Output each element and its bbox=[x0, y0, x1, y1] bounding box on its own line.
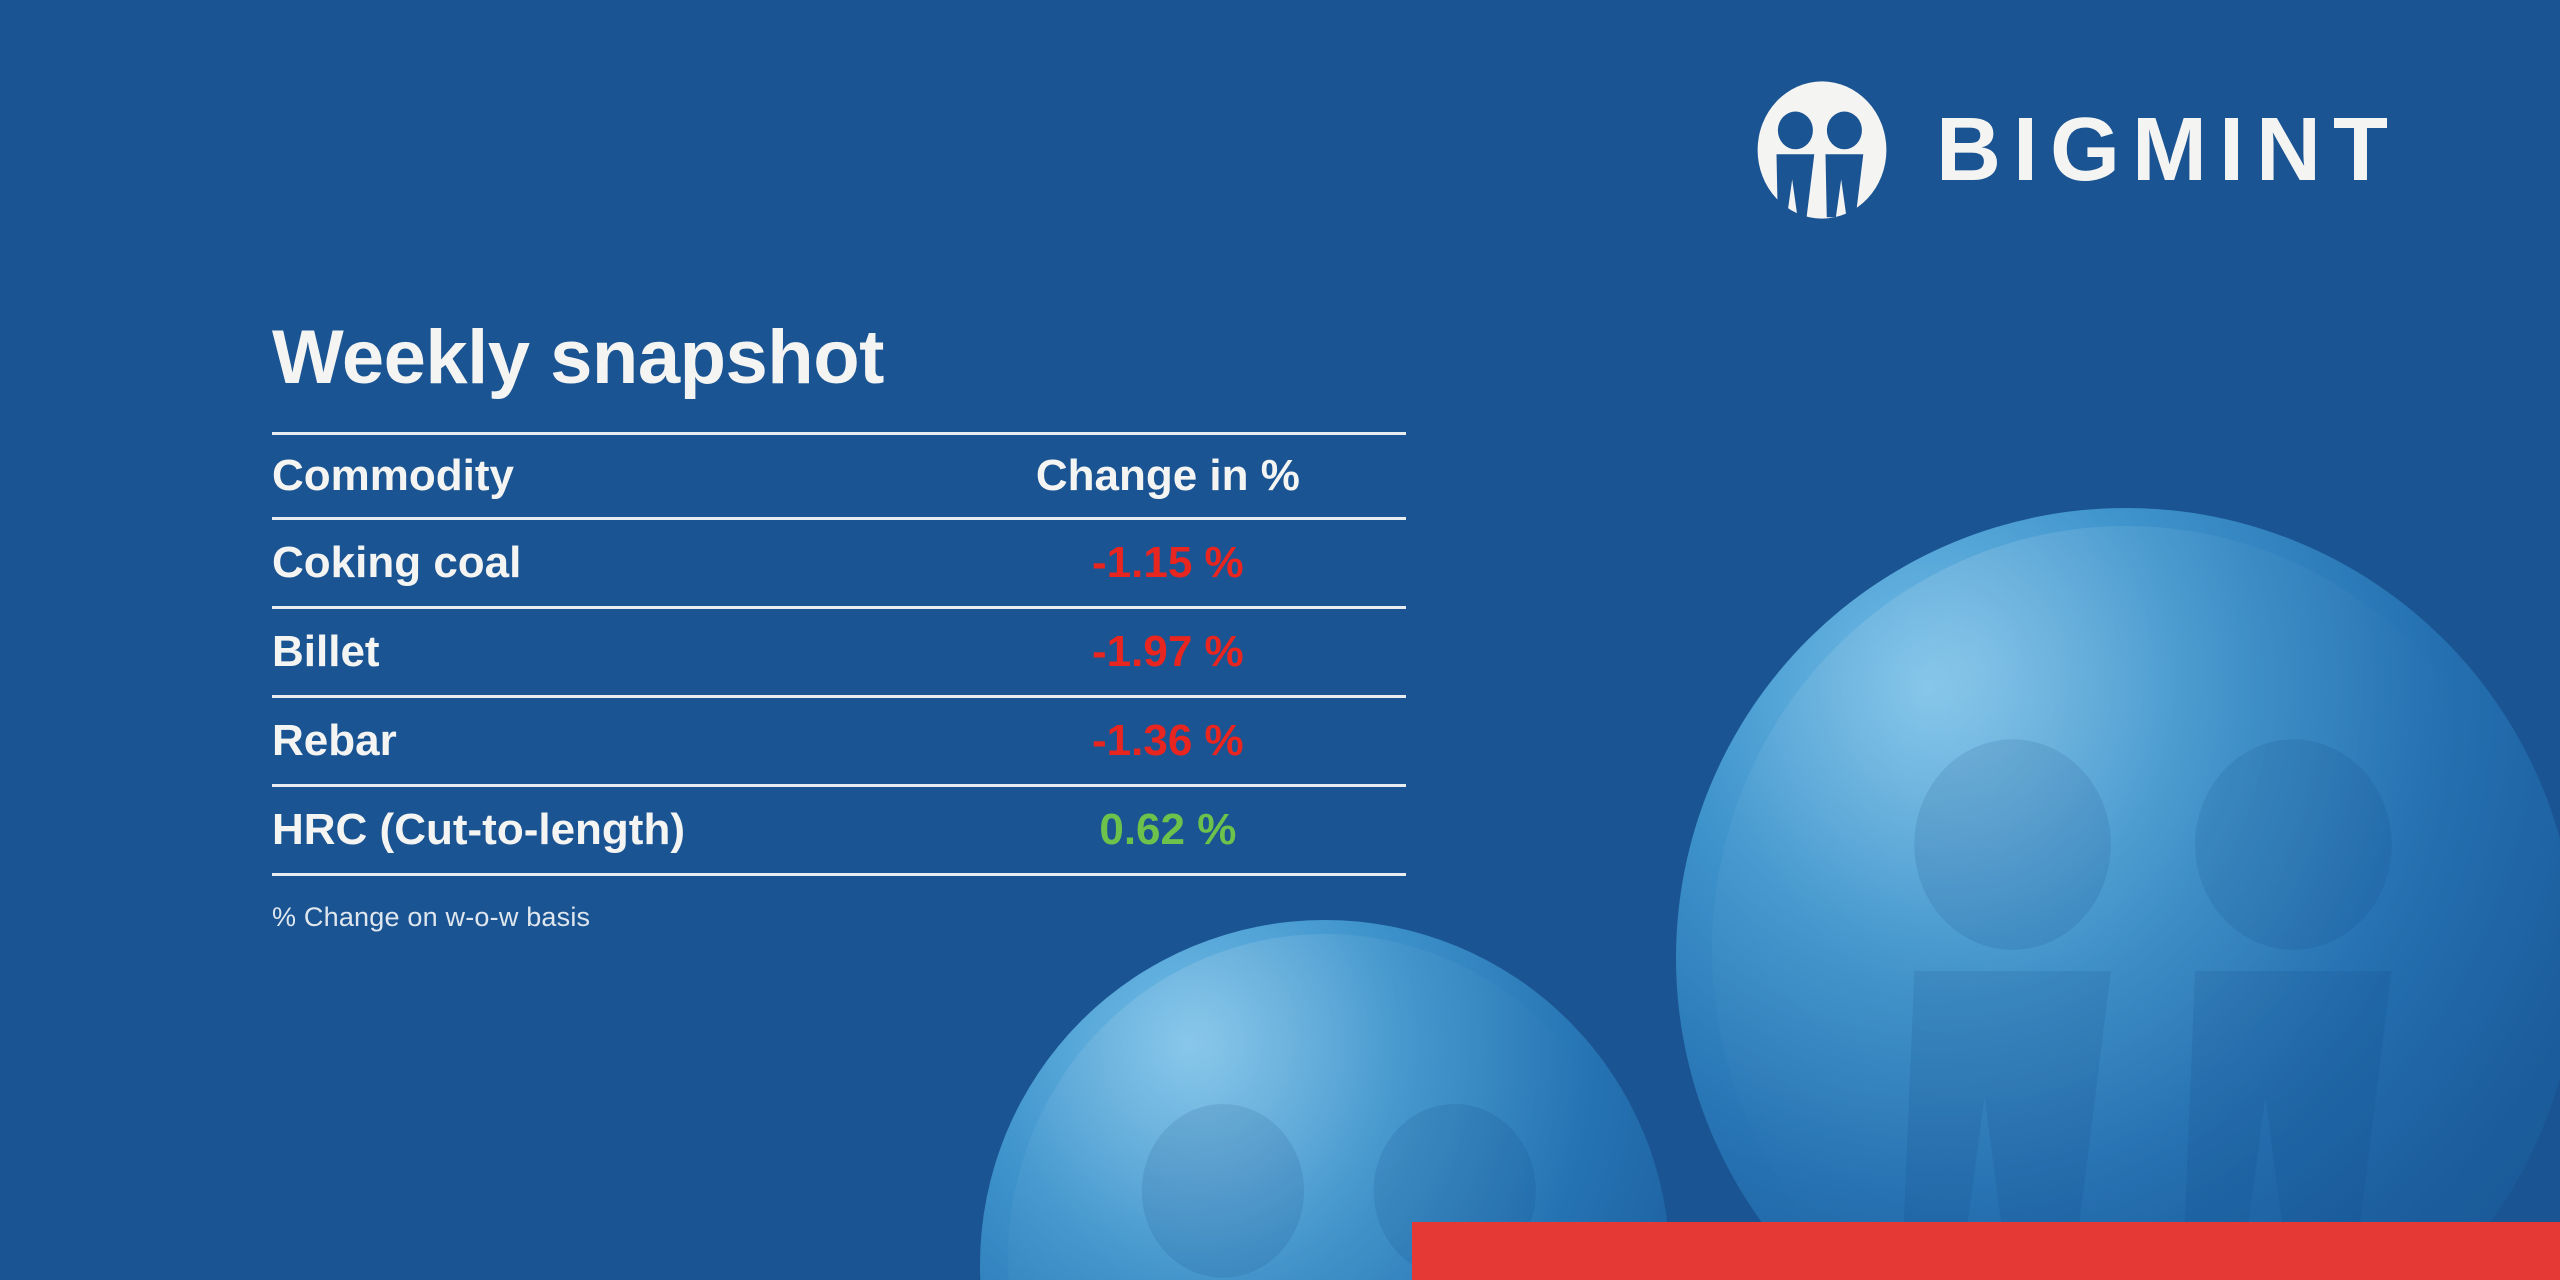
column-header-change: Change in % bbox=[930, 434, 1406, 519]
commodity-label: Coking coal bbox=[272, 519, 930, 608]
table-row: Billet -1.97 % bbox=[272, 608, 1406, 697]
commodity-label: HRC (Cut-to-length) bbox=[272, 786, 930, 875]
change-value: -1.15 % bbox=[930, 519, 1406, 608]
page-title: Weekly snapshot bbox=[272, 320, 1406, 396]
brand-logo: BIGMINT bbox=[1752, 80, 2400, 220]
commodity-label: Rebar bbox=[272, 697, 930, 786]
table-footnote: % Change on w-o-w basis bbox=[272, 902, 1406, 933]
weekly-snapshot-panel: Weekly snapshot Commodity Change in % Co… bbox=[272, 320, 1406, 933]
snapshot-table: Commodity Change in % Coking coal -1.15 … bbox=[272, 432, 1406, 876]
column-header-commodity: Commodity bbox=[272, 434, 930, 519]
table-header-row: Commodity Change in % bbox=[272, 434, 1406, 519]
table-row: Coking coal -1.15 % bbox=[272, 519, 1406, 608]
change-value: -1.36 % bbox=[930, 697, 1406, 786]
slide-canvas: BIGMINT Weekly snapshot Commodity Change… bbox=[0, 0, 2560, 1280]
table-row: HRC (Cut-to-length) 0.62 % bbox=[272, 786, 1406, 875]
commodity-label: Billet bbox=[272, 608, 930, 697]
bigmint-watermark-icon bbox=[1802, 616, 2504, 1280]
change-value: 0.62 % bbox=[930, 786, 1406, 875]
brand-wordmark: BIGMINT bbox=[1936, 105, 2400, 195]
bigmint-two-figures-icon bbox=[1752, 80, 1892, 220]
table-row: Rebar -1.36 % bbox=[272, 697, 1406, 786]
accent-bar bbox=[1412, 1222, 2560, 1280]
change-value: -1.97 % bbox=[930, 608, 1406, 697]
decorative-sphere-large bbox=[1676, 508, 2560, 1280]
